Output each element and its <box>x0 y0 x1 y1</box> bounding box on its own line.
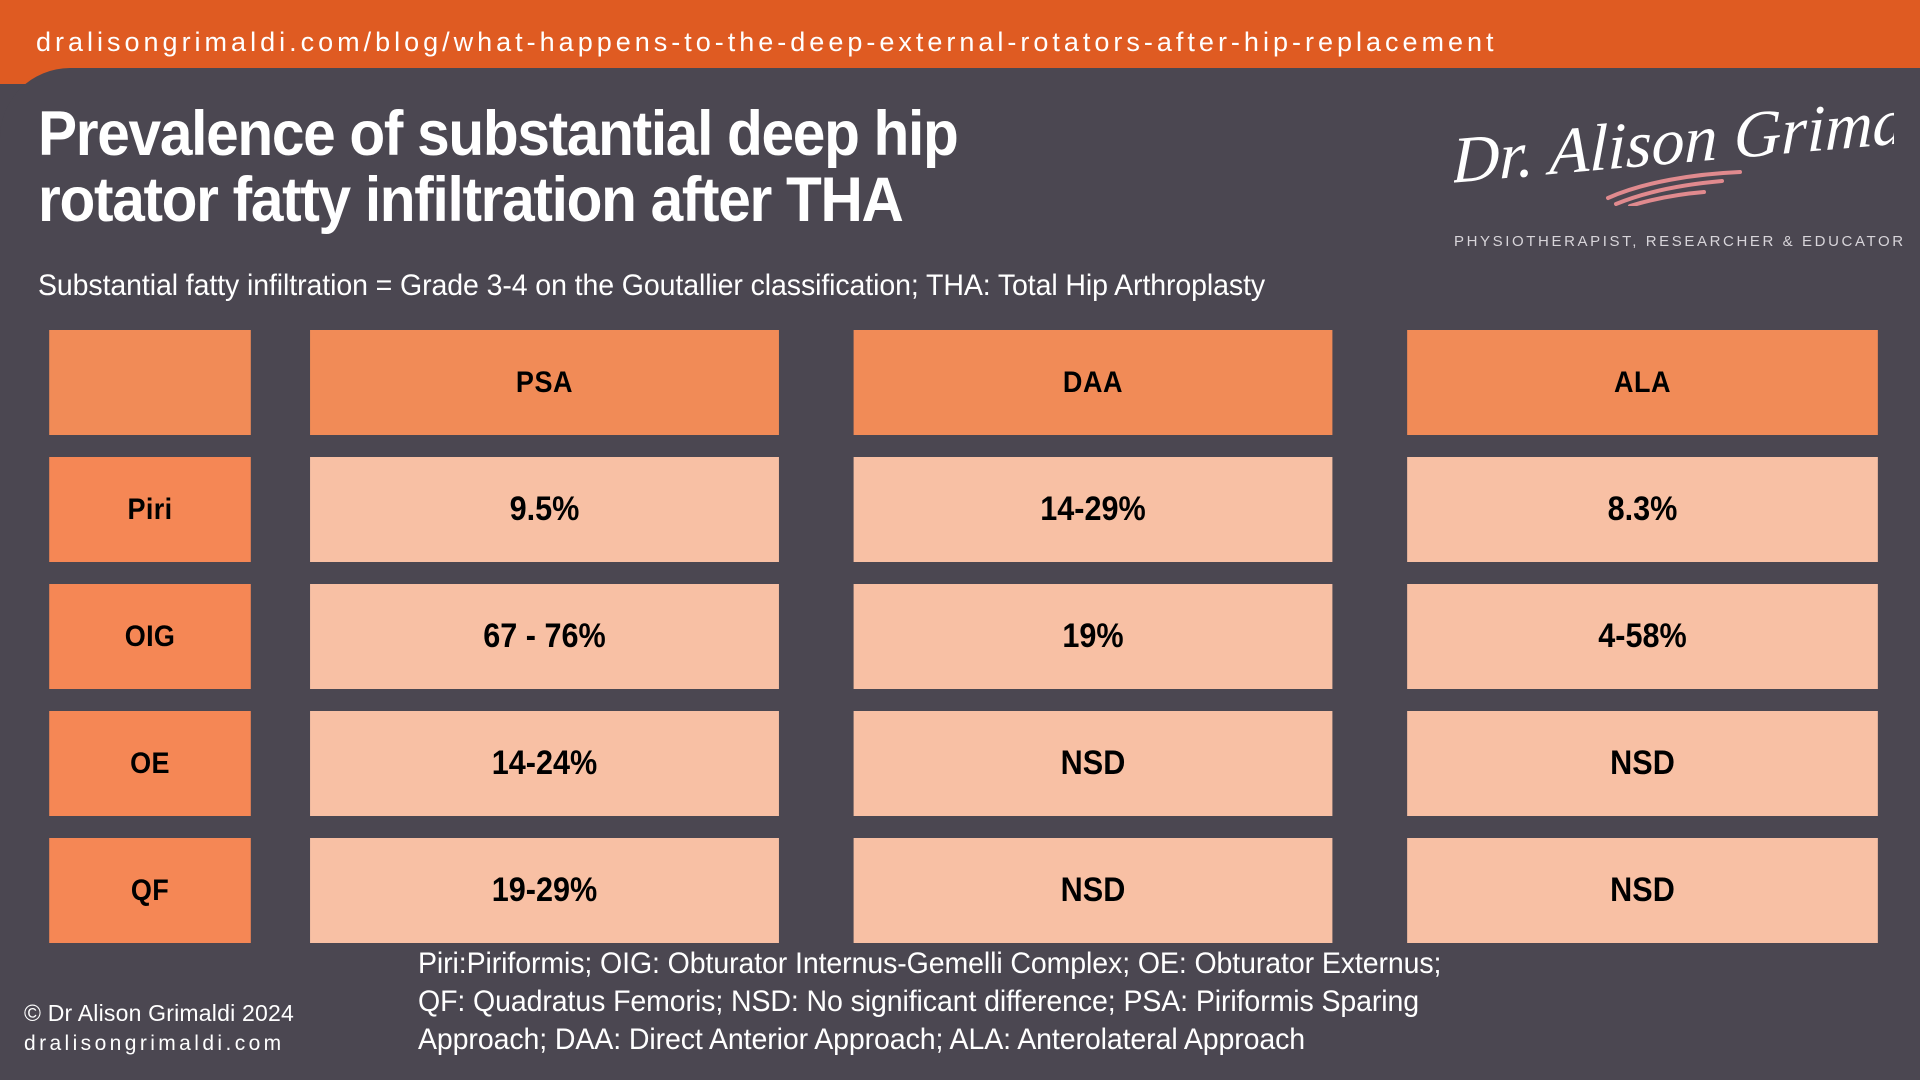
infographic-canvas: dralisongrimaldi.com/blog/what-happens-t… <box>0 0 1920 1080</box>
logo-tagline: PHYSIOTHERAPIST, RESEARCHER & EDUCATOR <box>1454 233 1894 250</box>
cell-oig-psa: 67 - 76% <box>310 584 779 689</box>
cell-oe-ala: NSD <box>1407 711 1878 816</box>
table-row: OIG 67 - 76% 19% 4-58% <box>38 584 1884 689</box>
page-title: Prevalence of substantial deep hip rotat… <box>38 102 1359 233</box>
cell-piri-ala: 8.3% <box>1407 457 1878 562</box>
row-label-piri: Piri <box>49 457 251 562</box>
column-header-daa: DAA <box>854 330 1333 435</box>
logo: Dr. Alison Grimaldi PHYSIOTHERAPIST, RES… <box>1454 102 1894 252</box>
legend-line-3: Approach; DAA: Direct Anterior Approach;… <box>418 1021 1786 1059</box>
table-row: OE 14-24% NSD NSD <box>38 711 1884 816</box>
header: Prevalence of substantial deep hip rotat… <box>0 86 1920 306</box>
page-subtitle: Substantial fatty infiltration = Grade 3… <box>38 269 1265 303</box>
cell-qf-daa: NSD <box>854 838 1333 943</box>
table-row: Piri 9.5% 14-29% 8.3% <box>38 457 1884 562</box>
row-label-qf: QF <box>49 838 251 943</box>
row-label-oig: OIG <box>49 584 251 689</box>
cell-qf-ala: NSD <box>1407 838 1878 943</box>
footer-credit: © Dr Alison Grimaldi 2024 dralisongrimal… <box>24 1000 294 1056</box>
legend-line-1: Piri:Piriformis; OIG: Obturator Internus… <box>418 945 1786 983</box>
cell-piri-daa: 14-29% <box>854 457 1333 562</box>
cell-oe-psa: 14-24% <box>310 711 779 816</box>
cell-oe-daa: NSD <box>854 711 1333 816</box>
table-row: QF 19-29% NSD NSD <box>38 838 1884 943</box>
url-text: dralisongrimaldi.com/blog/what-happens-t… <box>36 27 1498 58</box>
column-header-psa: PSA <box>310 330 779 435</box>
copyright-text: © Dr Alison Grimaldi 2024 <box>24 1000 294 1027</box>
cell-oig-ala: 4-58% <box>1407 584 1878 689</box>
column-header-ala: ALA <box>1407 330 1878 435</box>
table-corner-cell <box>49 330 251 435</box>
table-header-row: PSA DAA ALA <box>38 330 1884 435</box>
cell-piri-psa: 9.5% <box>310 457 779 562</box>
logo-swoosh-icon <box>1604 170 1754 206</box>
footer-legend: Piri:Piriformis; OIG: Obturator Internus… <box>418 945 1786 1059</box>
row-label-oe: OE <box>49 711 251 816</box>
cell-qf-psa: 19-29% <box>310 838 779 943</box>
cell-oig-daa: 19% <box>854 584 1333 689</box>
data-table: PSA DAA ALA Piri 9.5% 14-29% 8.3% OIG 67… <box>38 330 1884 965</box>
legend-line-2: QF: Quadratus Femoris; NSD: No significa… <box>418 983 1786 1021</box>
page-title-line2: rotator fatty infiltration after THA <box>38 165 903 235</box>
page-title-line1: Prevalence of substantial deep hip <box>38 99 957 169</box>
website-text: dralisongrimaldi.com <box>24 1032 294 1056</box>
